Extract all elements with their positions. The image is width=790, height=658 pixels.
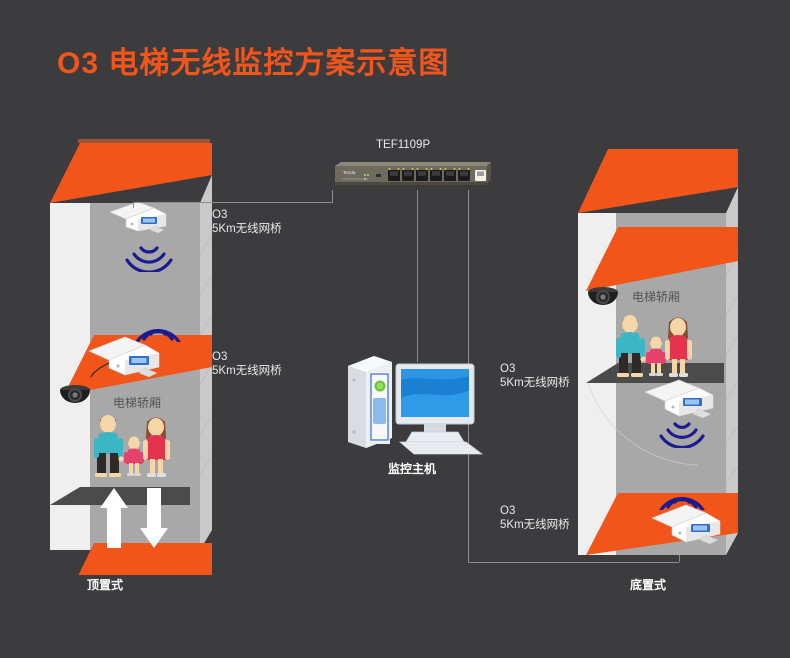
pc-label: 监控主机 — [388, 462, 436, 476]
right-car-label: 电梯轿厢 — [632, 290, 680, 304]
poe-switch-device[interactable]: Tenda TEF1109P 8-Port PoE — [331, 160, 491, 190]
left-top-bridge-name: O3 — [212, 208, 227, 222]
page-title: O3 电梯无线监控方案示意图 — [57, 38, 449, 82]
right-bottom-bridge-name: O3 — [500, 504, 515, 518]
right-bottom-wireless-bridge[interactable] — [650, 502, 726, 546]
left-car-label: 电梯轿厢 — [113, 396, 161, 410]
left-top-bridge-spec: 5Km无线网桥 — [212, 222, 282, 236]
switch-model-label: TEF1109P — [376, 138, 430, 152]
right-dome-camera-icon — [586, 284, 620, 312]
svg-text:Tenda: Tenda — [343, 170, 356, 175]
left-dome-camera-icon — [58, 382, 92, 410]
left-top-wireless-bridge[interactable] — [108, 200, 170, 234]
right-bottom-bridge-spec: 5Km无线网桥 — [500, 518, 570, 532]
cable-left-bridge-horizontal — [133, 202, 332, 203]
left-shaft-caption: 顶置式 — [87, 578, 123, 592]
monitoring-host-pc[interactable] — [340, 350, 486, 460]
left-elevator-direction-arrows — [92, 488, 186, 554]
left-car-wireless-bridge[interactable] — [87, 335, 165, 379]
right-car-wifi-signal — [654, 416, 712, 448]
right-car-wireless-bridge[interactable] — [643, 378, 717, 420]
left-car-bridge-name: O3 — [212, 350, 227, 364]
diagram-canvas: O3 电梯无线监控方案示意图 — [0, 0, 790, 658]
right-shaft-caption: 底置式 — [630, 578, 666, 592]
right-car-bridge-spec: 5Km无线网桥 — [500, 376, 570, 390]
left-top-wifi-signal — [119, 240, 179, 272]
cable-left-to-switch — [332, 190, 333, 203]
right-car-bridge-name: O3 — [500, 362, 515, 376]
left-car-bridge-spec: 5Km无线网桥 — [212, 364, 282, 378]
left-people-group — [90, 410, 180, 478]
right-people-group — [612, 310, 702, 378]
cable-switch-to-pc — [417, 190, 418, 362]
